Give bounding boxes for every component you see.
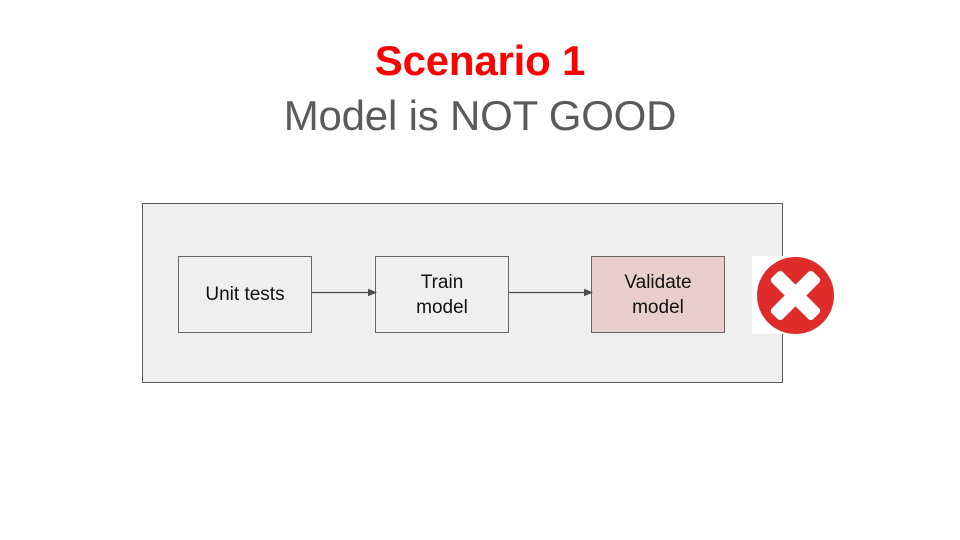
title-block: Scenario 1 Model is NOT GOOD [0,34,960,144]
pipeline-node-unit-tests[interactable]: Unit tests [178,256,312,333]
page-title: Scenario 1 [0,34,960,88]
slide-canvas: Scenario 1 Model is NOT GOOD Unit tests … [0,0,960,540]
validation-result [752,256,836,336]
arrow-train-model-to-validate-model [508,287,593,298]
pipeline-node-validate-model[interactable]: Validate model [591,256,725,333]
page-subtitle: Model is NOT GOOD [0,88,960,144]
arrow-unit-tests-to-train-model [311,287,377,298]
error-cross-circle-icon [756,256,835,335]
pipeline-node-train-model[interactable]: Train model [375,256,509,333]
